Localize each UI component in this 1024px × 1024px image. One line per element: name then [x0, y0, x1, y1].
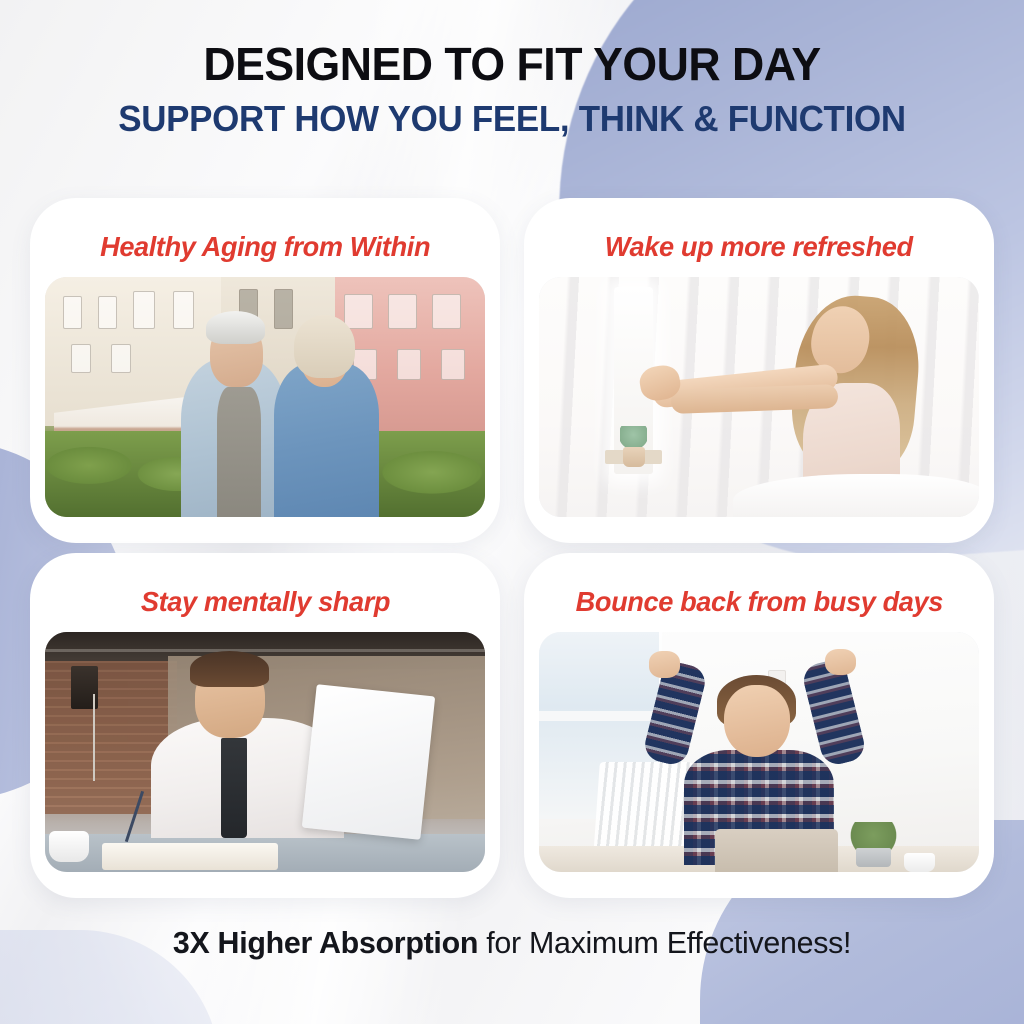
headline-block: DESIGNED TO FIT YOUR DAY SUPPORT HOW YOU…	[0, 40, 1024, 138]
card-photo-woman-celebrating	[539, 632, 979, 872]
card-photo-senior-couple	[45, 277, 485, 517]
card-photo-woman-stretching	[539, 277, 979, 517]
footer-claim-strong: 3X Higher Absorption	[173, 925, 478, 960]
card-title: Bounce back from busy days	[575, 586, 942, 618]
card-photo-businessman	[45, 632, 485, 872]
card-title: Healthy Aging from Within	[100, 231, 430, 263]
benefit-card-wake-refreshed[interactable]: Wake up more refreshed	[524, 198, 994, 543]
card-title: Stay mentally sharp	[140, 586, 389, 618]
footer-claim-light: for Maximum Effectiveness!	[478, 925, 851, 960]
benefit-card-mentally-sharp[interactable]: Stay mentally sharp	[30, 553, 500, 898]
headline-primary: DESIGNED TO FIT YOUR DAY	[15, 40, 1008, 88]
benefit-card-healthy-aging[interactable]: Healthy Aging from Within	[30, 198, 500, 543]
headline-secondary: SUPPORT HOW YOU FEEL, THINK & FUNCTION	[15, 100, 1008, 138]
benefit-card-grid: Healthy Aging from Within	[30, 198, 994, 898]
card-title: Wake up more refreshed	[605, 231, 913, 263]
benefit-card-bounce-back[interactable]: Bounce back from busy days	[524, 553, 994, 898]
infographic-canvas: DESIGNED TO FIT YOUR DAY SUPPORT HOW YOU…	[0, 0, 1024, 1024]
footer-claim: 3X Higher Absorption for Maximum Effecti…	[10, 925, 1014, 961]
